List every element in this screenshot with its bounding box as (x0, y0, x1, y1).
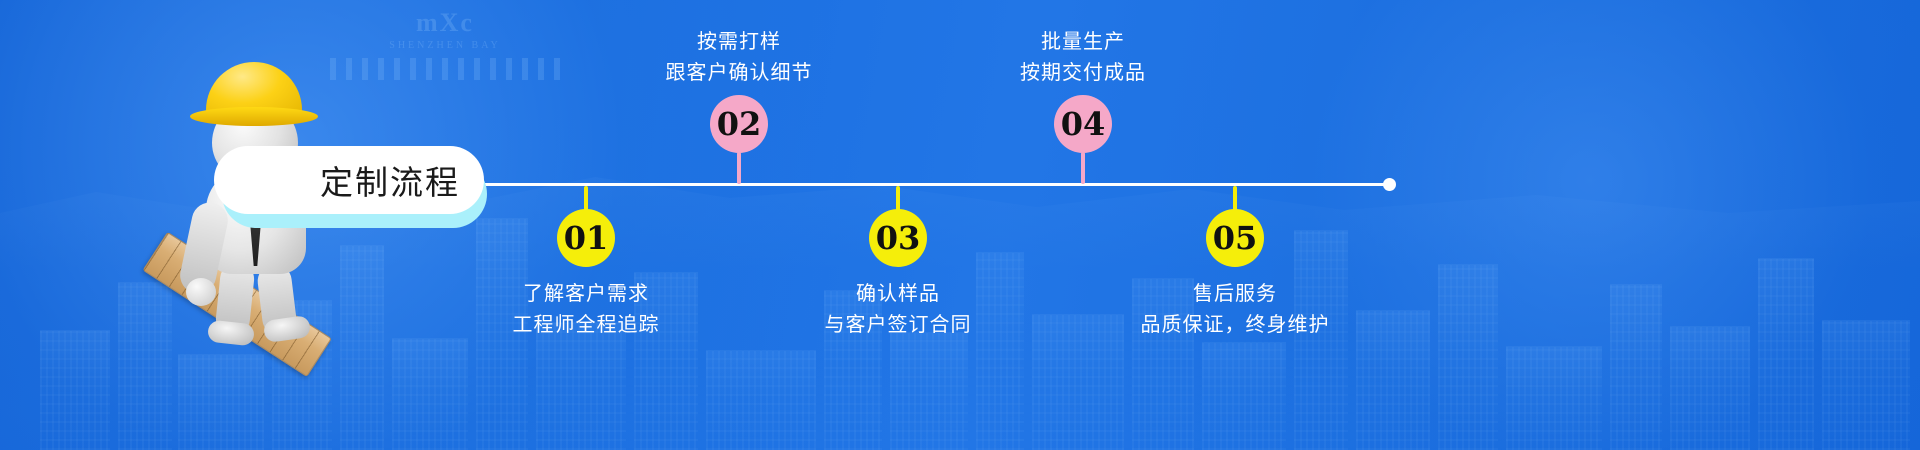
custom-process-banner: mXc SHENZHEN BAY 定制流程 01 了解客户需求 (0, 0, 1920, 450)
step-caption-03: 确认样品 与客户签订合同 (728, 278, 1068, 340)
step-caption-line2-01: 工程师全程追踪 (416, 309, 756, 340)
step-caption-line2-02: 跟客户确认细节 (569, 57, 909, 88)
page-title: 定制流程 (320, 156, 460, 204)
step-caption-line1-04: 批量生产 (913, 26, 1253, 57)
step-caption-01: 了解客户需求 工程师全程追踪 (416, 278, 756, 340)
step-number-badge-02[interactable]: 02 (710, 95, 768, 153)
step-caption-line2-05: 品质保证，终身维护 (1065, 309, 1405, 340)
mascot-left-hand (186, 278, 216, 306)
step-caption-line1-01: 了解客户需求 (416, 278, 756, 309)
step-stem-02 (737, 152, 741, 184)
hard-hat-brim (190, 107, 318, 126)
timeline-line (470, 183, 1390, 186)
watermark-logo-text: mXc (330, 8, 560, 38)
step-caption-line2-03: 与客户签订合同 (728, 309, 1068, 340)
step-stem-04 (1081, 152, 1085, 184)
step-caption-02: 按需打样 跟客户确认细节 (569, 26, 909, 88)
step-number-badge-01[interactable]: 01 (557, 209, 615, 267)
step-caption-04: 批量生产 按期交付成品 (913, 26, 1253, 88)
step-caption-line1-02: 按需打样 (569, 26, 909, 57)
step-number-badge-05[interactable]: 05 (1206, 209, 1264, 267)
step-caption-line2-04: 按期交付成品 (913, 57, 1253, 88)
step-number-badge-03[interactable]: 03 (869, 209, 927, 267)
step-number-badge-04[interactable]: 04 (1054, 95, 1112, 153)
title-pill: 定制流程 (214, 146, 484, 214)
watermark-subtitle: SHENZHEN BAY (330, 40, 560, 51)
timeline-end-dot (1383, 178, 1396, 191)
step-caption-line1-05: 售后服务 (1065, 278, 1405, 309)
step-caption-05: 售后服务 品质保证，终身维护 (1065, 278, 1405, 340)
step-caption-line1-03: 确认样品 (728, 278, 1068, 309)
